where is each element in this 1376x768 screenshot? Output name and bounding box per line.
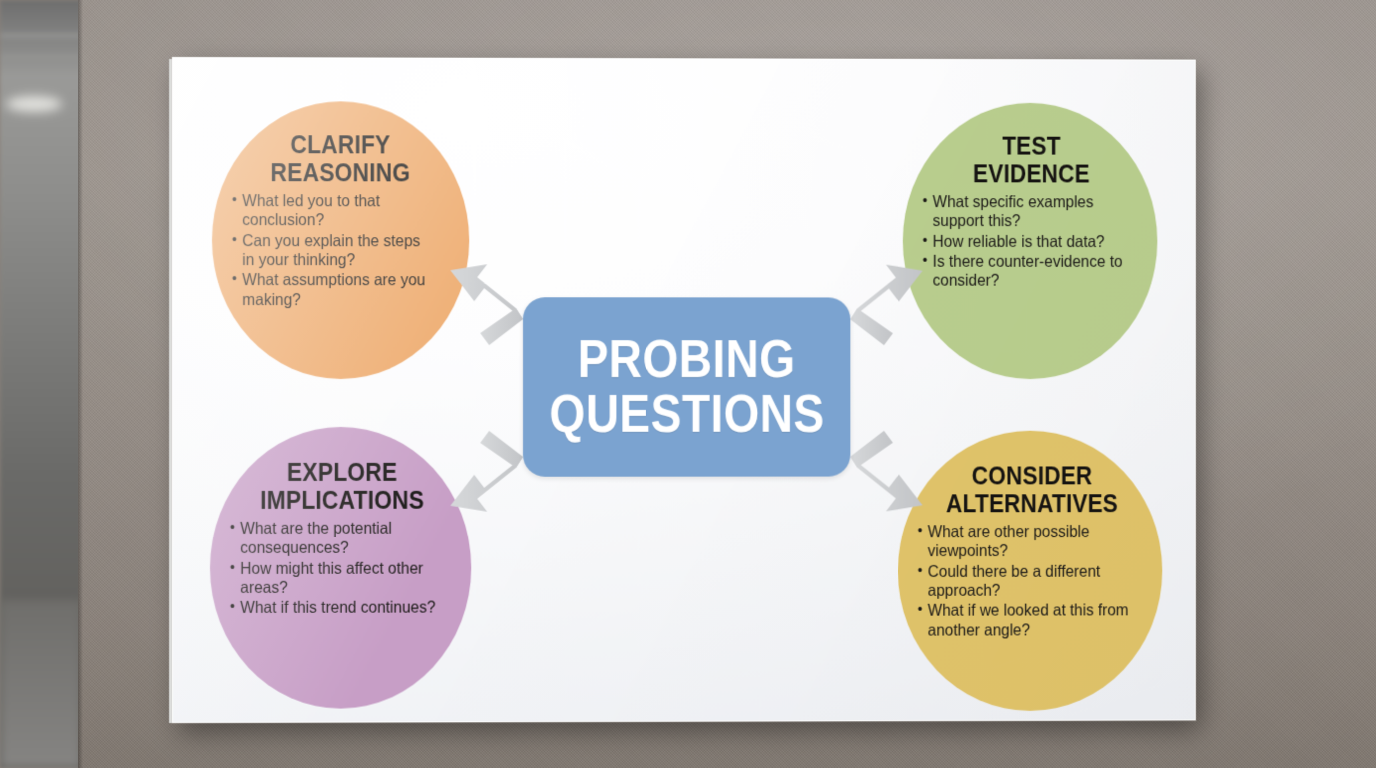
corridor-ceiling-line-2 bbox=[0, 56, 82, 58]
list-item: What if this trend continues? bbox=[230, 599, 440, 619]
node-question-list: What specific examples support this? How… bbox=[923, 193, 1140, 292]
node-consider-alternatives[interactable]: CONSIDER ALTERNATIVES What are other pos… bbox=[898, 431, 1162, 712]
node-title-explore-implications: EXPLORE IMPLICATIONS bbox=[260, 459, 424, 514]
board-surface: CLARIFY REASONING What led you to that c… bbox=[172, 57, 1196, 723]
corridor-floor bbox=[0, 600, 82, 768]
node-title-consider-alternatives: CONSIDER ALTERNATIVES bbox=[946, 462, 1118, 517]
list-item: Could there be a different approach? bbox=[918, 562, 1133, 601]
list-item: How reliable is that data? bbox=[923, 233, 1127, 252]
list-item: What led you to that conclusion? bbox=[232, 192, 436, 231]
node-title-clarify-reasoning: CLARIFY REASONING bbox=[271, 131, 411, 186]
list-item: What if we looked at this from another a… bbox=[918, 602, 1133, 641]
center-title-line-1: PROBING bbox=[578, 332, 796, 387]
background-corridor bbox=[0, 0, 82, 768]
node-explore-implications[interactable]: EXPLORE IMPLICATIONS What are the potent… bbox=[210, 427, 471, 709]
node-question-list: What led you to that conclusion? Can you… bbox=[232, 192, 449, 311]
list-item: How might this affect other areas? bbox=[230, 559, 440, 598]
list-item: What specific examples support this? bbox=[923, 193, 1127, 232]
node-question-list: What are other possible viewpoints? Coul… bbox=[918, 523, 1147, 641]
arrow-center-to-explore bbox=[450, 431, 523, 512]
node-title-test-evidence: TEST EVIDENCE bbox=[973, 133, 1090, 188]
center-title-line-2: QUESTIONS bbox=[549, 387, 824, 442]
corridor-ceiling-light bbox=[6, 96, 62, 112]
node-question-list: What are the potential consequences? How… bbox=[230, 520, 453, 620]
node-clarify-reasoning[interactable]: CLARIFY REASONING What led you to that c… bbox=[212, 101, 469, 379]
list-item: What are the potential consequences? bbox=[230, 520, 440, 559]
corridor-ceiling-line bbox=[0, 34, 82, 37]
list-item: What are other possible viewpoints? bbox=[918, 523, 1133, 562]
center-node-probing-questions[interactable]: PROBING QUESTIONS bbox=[523, 297, 850, 477]
list-item: What assumptions are you making? bbox=[232, 271, 436, 310]
wall-corner-edge bbox=[78, 0, 83, 768]
list-item: Can you explain the steps in your thinki… bbox=[232, 232, 436, 271]
node-test-evidence[interactable]: TEST EVIDENCE What specific examples sup… bbox=[903, 103, 1158, 379]
arrow-center-to-consider bbox=[850, 431, 922, 512]
list-item: Is there counter-evidence to consider? bbox=[923, 253, 1127, 292]
whiteboard-panel: CLARIFY REASONING What led you to that c… bbox=[172, 57, 1196, 723]
scene-photo: CLARIFY REASONING What led you to that c… bbox=[0, 0, 1376, 768]
